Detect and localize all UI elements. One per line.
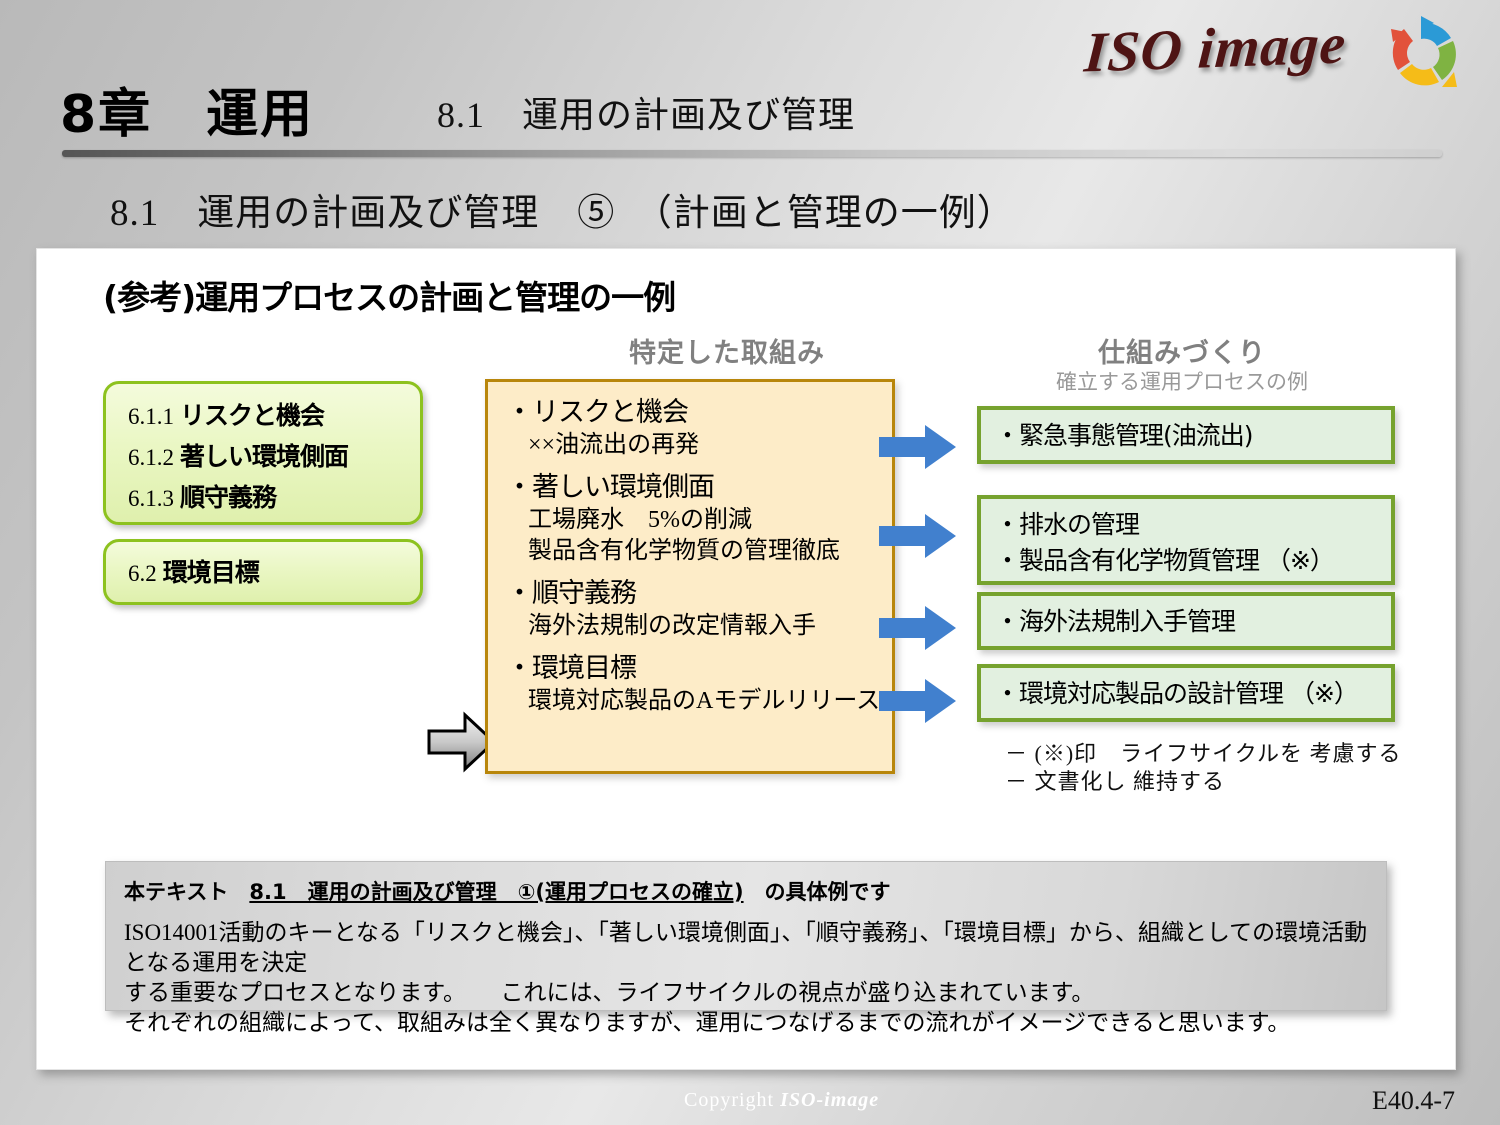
process-line: ・製品含有化学物質管理 （※） — [995, 543, 1391, 579]
iso-image-logo: ISO image — [1075, 8, 1475, 96]
blue-arrow-icon — [879, 679, 957, 723]
column-heading-right: 仕組みづくり — [987, 331, 1377, 370]
content-card: (参考)運用プロセスの計画と管理の一例 特定した取組み 仕組みづくり 確立する運… — [36, 248, 1456, 1070]
explanation-panel: 本テキスト 8.1 運用の計画及び管理 ①(運用プロセスの確立) の具体例です … — [105, 861, 1387, 1011]
left-row: 6.1.1リスクと機会 — [128, 396, 420, 437]
page-number: E40.4-7 — [1372, 1086, 1455, 1116]
slide-canvas: ISO image 8章 運用 8.1 運用の計画及び管理 8.1 運用の計画及… — [0, 0, 1500, 1125]
clause-number: 6.1.1 — [128, 404, 174, 429]
explanation-body-line: する重要なプロセスとなります。 これには、ライフサイクルの視点が盛り込まれていま… — [124, 978, 1386, 1008]
center-item-title: ・著しい環境側面 — [506, 471, 892, 505]
center-box-identified-actions: ・リスクと機会 ××油流出の再発 ・著しい環境側面 工場廃水 5%の削減 製品含… — [485, 379, 895, 774]
left-box-objectives: 6.2環境目標 — [103, 539, 423, 605]
blue-arrow-icon — [879, 425, 957, 469]
left-row: 6.1.2著しい環境側面 — [128, 437, 420, 478]
left-row: 6.1.3順守義務 — [128, 478, 420, 519]
right-box-eco-design: ・環境対応製品の設計管理 （※） — [977, 664, 1395, 722]
center-item-detail: 製品含有化学物質の管理徹底 — [528, 536, 892, 567]
right-box-overseas-regulation: ・海外法規制入手管理 — [977, 592, 1395, 650]
process-line: ・環境対応製品の設計管理 （※） — [995, 676, 1391, 712]
clause-label: 著しい環境側面 — [180, 442, 348, 471]
explanation-heading-suffix: の具体例です — [744, 880, 891, 904]
right-box-emergency: ・緊急事態管理(油流出) — [977, 406, 1395, 464]
footer-copyright-label: Copyright — [684, 1089, 774, 1111]
explanation-heading-prefix: 本テキスト — [124, 880, 249, 904]
page-subtitle: 8.1 運用の計画及び管理 — [437, 86, 855, 138]
clause-label: 環境目標 — [163, 558, 259, 587]
center-item-title: ・順守義務 — [506, 577, 892, 611]
card-title: (参考)運用プロセスの計画と管理の一例 — [103, 271, 675, 319]
explanation-body-line: それぞれの組織によって、取組みは全く異なりますが、運用につなげるまでの流れがイメ… — [124, 1008, 1386, 1038]
column-subheading-right: 確立する運用プロセスの例 — [987, 366, 1377, 396]
explanation-heading-reference: 8.1 運用の計画及び管理 ①(運用プロセスの確立) — [249, 880, 743, 904]
center-item-detail: 環境対応製品のAモデルリリース — [528, 686, 892, 717]
page-title: 8章 運用 — [60, 72, 314, 147]
section-title: 8.1 運用の計画及び管理 ⑤ （計画と管理の一例） — [110, 182, 1015, 236]
center-item: ・順守義務 海外法規制の改定情報入手 — [506, 577, 892, 642]
left-box-risks: 6.1.1リスクと機会 6.1.2著しい環境側面 6.1.3順守義務 — [103, 381, 423, 525]
process-line: ・緊急事態管理(油流出) — [995, 418, 1391, 454]
center-item: ・リスクと機会 ××油流出の再発 — [506, 396, 892, 461]
clause-number: 6.1.3 — [128, 486, 174, 511]
center-item: ・著しい環境側面 工場廃水 5%の削減 製品含有化学物質の管理徹底 — [506, 471, 892, 567]
color-wheel-icon — [1380, 14, 1468, 96]
explanation-body-line: ISO14001活動のキーとなる「リスクと機会」、「著しい環境側面」、「順守義務… — [124, 918, 1386, 978]
process-line: ・排水の管理 — [995, 507, 1391, 543]
process-line: ・海外法規制入手管理 — [995, 604, 1391, 640]
center-item-title: ・環境目標 — [506, 652, 892, 686]
column-heading-center: 特定した取組み — [562, 331, 892, 370]
center-item-detail: 工場廃水 5%の削減 — [528, 505, 892, 536]
footer-copyright: CopyrightISO-image — [684, 1089, 879, 1112]
center-item-detail: ××油流出の再発 — [528, 430, 892, 461]
center-item: ・環境目標 環境対応製品のAモデルリリース — [506, 652, 892, 717]
clause-number: 6.1.2 — [128, 445, 174, 470]
footnote-documented: － 文書化し 維持する — [1005, 764, 1225, 796]
explanation-body: ISO14001活動のキーとなる「リスクと機会」、「著しい環境側面」、「順守義務… — [124, 918, 1386, 1038]
header-divider — [62, 150, 1442, 157]
right-box-wastewater: ・排水の管理 ・製品含有化学物質管理 （※） — [977, 495, 1395, 585]
footer-brand: ISO-image — [780, 1089, 879, 1111]
blue-arrow-icon — [879, 514, 957, 558]
logo-wordmark: ISO image — [1082, 11, 1348, 85]
center-item-title: ・リスクと機会 — [506, 396, 892, 430]
clause-label: リスクと機会 — [180, 401, 324, 430]
explanation-heading: 本テキスト 8.1 運用の計画及び管理 ①(運用プロセスの確立) の具体例です — [124, 876, 1386, 906]
left-row: 6.2環境目標 — [128, 553, 420, 594]
clause-label: 順守義務 — [180, 483, 276, 512]
center-item-detail: 海外法規制の改定情報入手 — [528, 611, 892, 642]
clause-number: 6.2 — [128, 561, 157, 586]
blue-arrow-icon — [879, 606, 957, 650]
